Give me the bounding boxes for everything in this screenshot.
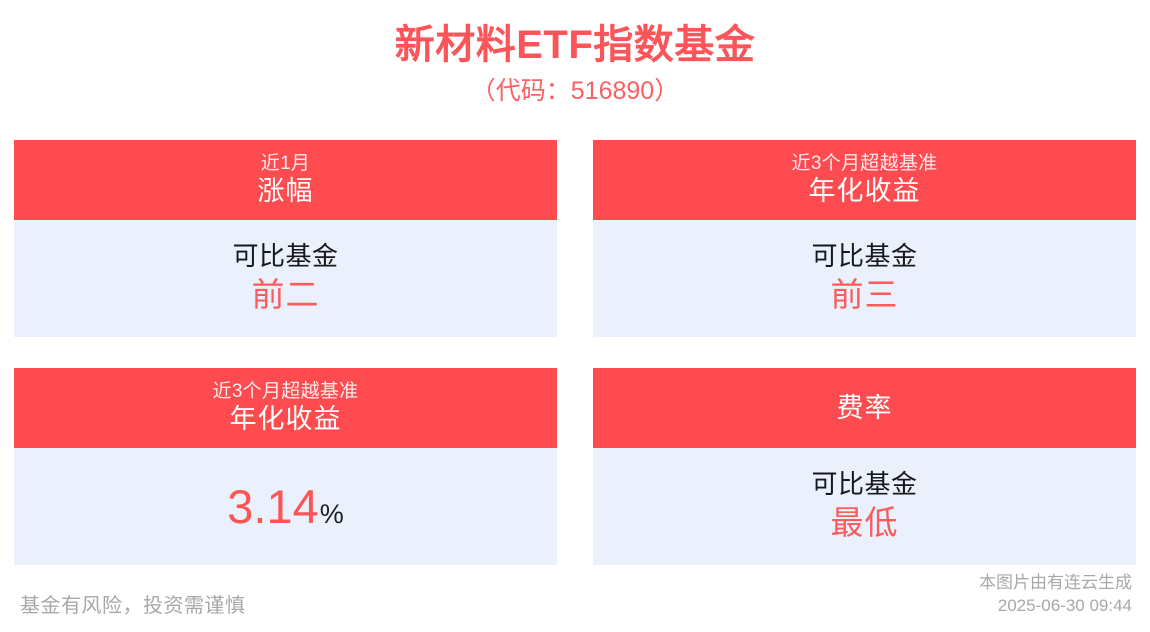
card-header: 近3个月超越基准 年化收益 [14,368,557,448]
footer: 基金有风险，投资需谨慎 本图片由有连云生成 2025-06-30 09:44 [0,566,1150,632]
metric-value: 3.14 [227,479,318,534]
metric-card-3m-excess-annualized-rank: 近3个月超越基准 年化收益 可比基金 前三 [593,140,1136,337]
card-header: 近1月 涨幅 [14,140,557,220]
card-header: 费率 [593,368,1136,448]
metric-value-row: 3.14 % [227,479,344,534]
metric-card-fee-rate: 费率 可比基金 最低 [593,368,1136,565]
card-body: 可比基金 前二 [14,220,557,337]
page-title: 新材料ETF指数基金 [0,22,1150,69]
card-body-label: 可比基金 [811,468,917,502]
card-header-subtitle: 近3个月超越基准 [792,152,938,176]
generation-timestamp: 2025-06-30 09:44 [979,595,1132,618]
card-header-title: 费率 [837,392,893,425]
metric-card-monthly-gain: 近1月 涨幅 可比基金 前二 [14,140,557,337]
card-body-rank: 前三 [831,274,899,317]
metric-value-unit: % [320,499,344,530]
card-header-subtitle: 近3个月超越基准 [213,380,359,404]
card-body: 可比基金 前三 [593,220,1136,337]
page-title-block: 新材料ETF指数基金 （代码：516890） [0,0,1150,111]
fund-code-subtitle: （代码：516890） [0,73,1150,111]
card-body-label: 可比基金 [232,240,338,274]
card-body-label: 可比基金 [811,240,917,274]
metric-card-3m-excess-annualized-value: 近3个月超越基准 年化收益 3.14 % [14,368,557,565]
card-body-rank: 最低 [831,502,899,545]
card-header-title: 涨幅 [258,175,314,208]
card-header-title: 年化收益 [230,403,342,436]
card-header-title: 年化收益 [809,175,921,208]
card-body: 可比基金 最低 [593,448,1136,565]
metric-cards-grid: 近1月 涨幅 可比基金 前二 近3个月超越基准 年化收益 可比基金 前三 近3个… [14,140,1136,565]
card-header: 近3个月超越基准 年化收益 [593,140,1136,220]
footer-attribution: 本图片由有连云生成 2025-06-30 09:44 [979,572,1132,618]
risk-disclaimer: 基金有风险，投资需谨慎 [20,594,246,618]
image-source-label: 本图片由有连云生成 [979,572,1132,595]
card-header-subtitle: 近1月 [261,152,310,176]
card-body: 3.14 % [14,448,557,565]
card-body-rank: 前二 [252,274,320,317]
